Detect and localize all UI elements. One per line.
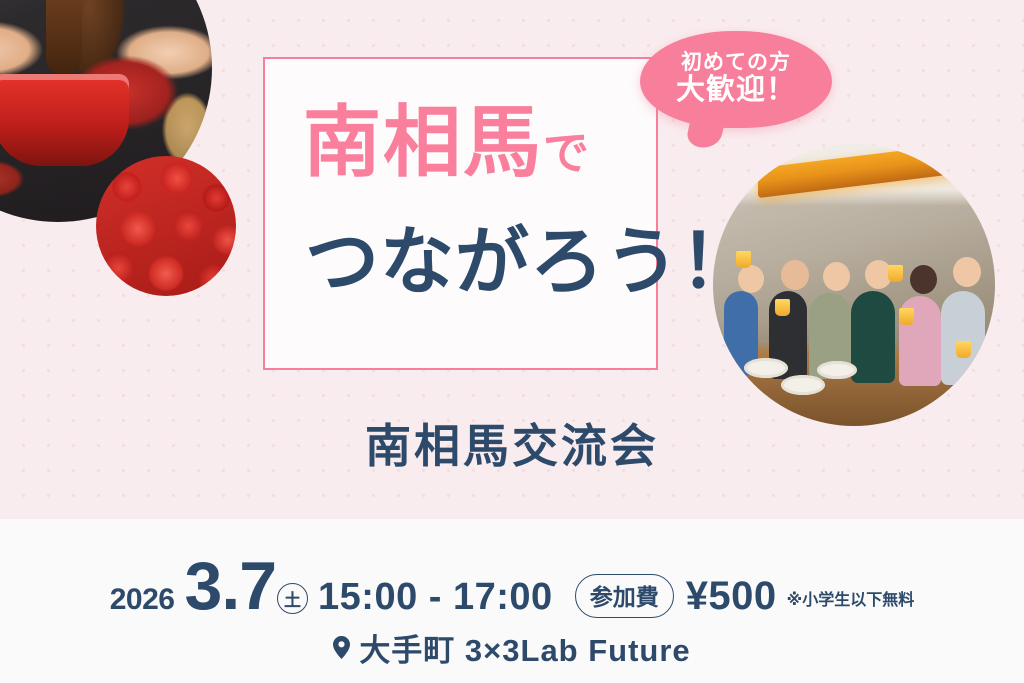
event-year: 2026 — [110, 583, 175, 617]
drink-cup-1 — [736, 251, 751, 268]
event-date: 3.7 — [185, 556, 277, 617]
fee-amount: ¥500 — [686, 574, 777, 619]
person-2-head — [781, 260, 809, 290]
chocolate-bowl — [0, 74, 129, 166]
person-5-head — [910, 265, 937, 294]
strawberries-photo — [96, 156, 236, 296]
chocolate-stream — [46, 0, 82, 75]
event-venue-row: 大手町 3×3Lab Future — [0, 625, 1024, 670]
drink-cup-2 — [775, 299, 790, 316]
event-day-of-week: 土 — [277, 583, 308, 614]
event-time: 15:00 - 17:00 — [318, 576, 553, 619]
badge-line-2: 大歓迎！ — [676, 74, 796, 107]
drink-cup-5 — [956, 341, 971, 358]
person-1-head — [738, 265, 764, 293]
drink-cup-4 — [899, 308, 914, 325]
map-pin-icon — [333, 636, 350, 659]
event-subtitle: 南相馬交流会 — [0, 410, 1024, 476]
badge-line-1: 初めての方 — [681, 51, 791, 74]
welcome-badge: 初めての方 大歓迎！ — [640, 31, 832, 128]
person-4 — [851, 291, 895, 383]
title-card — [263, 57, 658, 370]
drink-cup-3 — [888, 265, 903, 282]
fee-note: ※小学生以下無料 — [787, 586, 915, 610]
networking-party-photo — [713, 144, 995, 426]
event-venue: 大手町 3×3Lab Future — [359, 625, 690, 670]
event-datetime-row: 2026 3.7 土 15:00 - 17:00 参加費 ¥500 ※小学生以下… — [0, 556, 1024, 622]
fee-label-pill: 参加費 — [575, 574, 674, 618]
event-flyer: 南相馬で つながろう！ 初めての方 大歓迎！ 南相馬交流会 2026 3.7 土… — [0, 0, 1024, 683]
person-3-head — [823, 262, 850, 291]
person-6 — [941, 291, 985, 385]
person-6-head — [953, 257, 981, 287]
food-plate-2 — [781, 375, 825, 395]
